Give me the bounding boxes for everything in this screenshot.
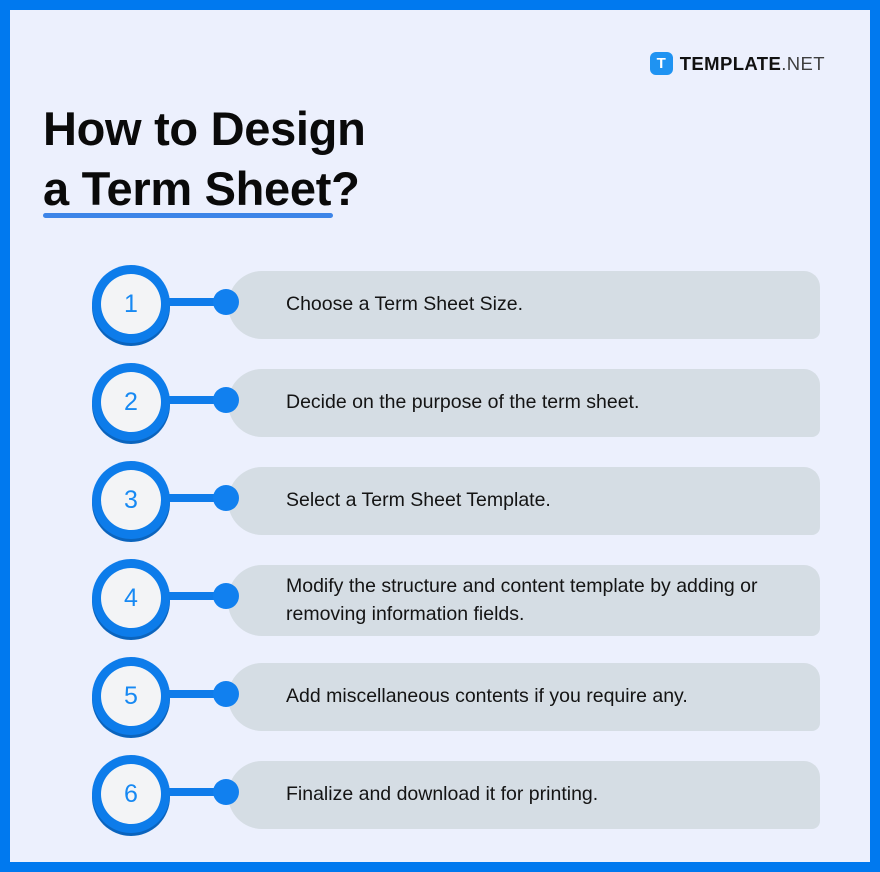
step-number: 6 <box>101 764 161 824</box>
step-number-badge: 4 <box>92 559 170 637</box>
step-pill: Modify the structure and content templat… <box>228 565 820 636</box>
step-number: 3 <box>101 470 161 530</box>
brand-name: TEMPLATE <box>680 53 782 74</box>
step-number: 1 <box>101 274 161 334</box>
step-pill: Finalize and download it for printing. <box>228 761 820 829</box>
step-number-badge: 1 <box>92 265 170 343</box>
step-connector-dot <box>213 289 239 315</box>
step-connector-dot <box>213 681 239 707</box>
step-item: Choose a Term Sheet Size. 1 <box>10 265 880 363</box>
step-number: 2 <box>101 372 161 432</box>
step-item: Select a Term Sheet Template. 3 <box>10 461 880 559</box>
step-number-badge: 5 <box>92 657 170 735</box>
step-text: Add miscellaneous contents if you requir… <box>286 683 688 711</box>
step-text: Decide on the purpose of the term sheet. <box>286 389 639 417</box>
step-number-badge: 3 <box>92 461 170 539</box>
page-title-line-2: a Term Sheet? <box>43 159 365 218</box>
step-number-badge: 2 <box>92 363 170 441</box>
step-item: Finalize and download it for printing. 6 <box>10 755 880 853</box>
step-text: Finalize and download it for printing. <box>286 781 598 809</box>
step-pill: Decide on the purpose of the term sheet. <box>228 369 820 437</box>
step-text: Select a Term Sheet Template. <box>286 487 551 515</box>
infographic-poster: T TEMPLATE.NET How to Design a Term Shee… <box>0 0 880 872</box>
step-connector-dot <box>213 485 239 511</box>
brand-mark-letter: T <box>657 56 666 71</box>
step-connector-dot <box>213 583 239 609</box>
step-connector-dot <box>213 387 239 413</box>
step-number-badge: 6 <box>92 755 170 833</box>
steps-list: Choose a Term Sheet Size. 1 Decide on th… <box>10 265 880 853</box>
brand-tld: .NET <box>781 53 825 74</box>
page-title-line-1: How to Design <box>43 99 365 158</box>
step-connector-dot <box>213 779 239 805</box>
step-pill: Add miscellaneous contents if you requir… <box>228 663 820 731</box>
brand-logo: T TEMPLATE.NET <box>650 52 825 75</box>
step-number: 4 <box>101 568 161 628</box>
step-item: Modify the structure and content templat… <box>10 559 880 657</box>
step-item: Add miscellaneous contents if you requir… <box>10 657 880 755</box>
step-item: Decide on the purpose of the term sheet.… <box>10 363 880 461</box>
step-text: Choose a Term Sheet Size. <box>286 291 523 319</box>
step-text: Modify the structure and content templat… <box>286 573 786 628</box>
step-pill: Select a Term Sheet Template. <box>228 467 820 535</box>
brand-wordmark: TEMPLATE.NET <box>680 53 825 75</box>
page-title: How to Design a Term Sheet? <box>43 99 365 217</box>
title-underline-rule <box>43 213 333 218</box>
step-pill: Choose a Term Sheet Size. <box>228 271 820 339</box>
template-net-logo-icon: T <box>650 52 673 75</box>
step-number: 5 <box>101 666 161 726</box>
